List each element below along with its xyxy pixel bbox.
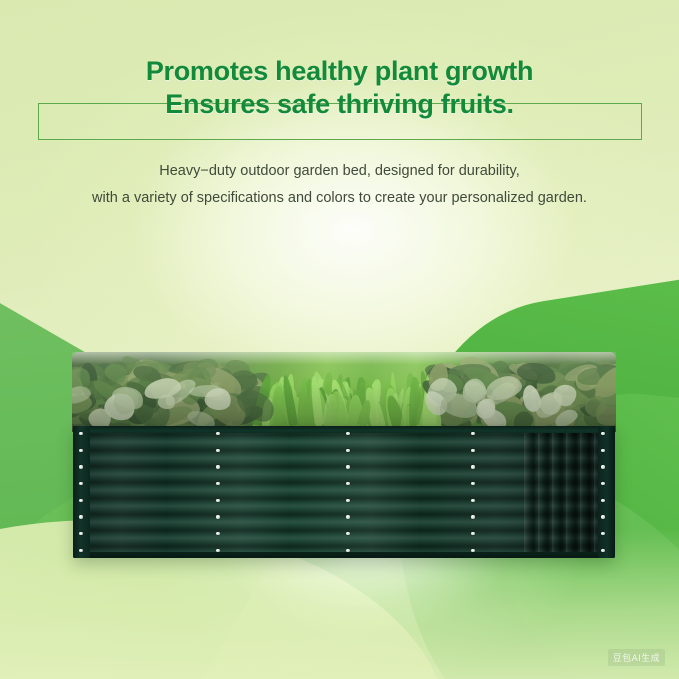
rivet <box>601 482 604 485</box>
rivet <box>79 532 82 535</box>
rivet <box>471 549 474 552</box>
rivet <box>216 482 219 485</box>
subtitle-line-2: with a variety of specifications and col… <box>0 185 679 212</box>
bed-end-face <box>524 426 598 558</box>
product-image <box>70 352 618 567</box>
rivet <box>79 465 82 468</box>
rivet <box>216 532 219 535</box>
promo-poster: Promotes healthy plant growth Ensures sa… <box>0 0 679 679</box>
rivet <box>471 499 474 502</box>
foliage <box>72 352 616 432</box>
rivet <box>601 465 604 468</box>
rivet <box>471 449 474 452</box>
rivet <box>601 515 604 518</box>
rivet-column <box>346 432 350 552</box>
rivet <box>346 532 349 535</box>
rivet <box>216 465 219 468</box>
rivet-column <box>216 432 220 552</box>
rivet <box>471 465 474 468</box>
subtitle-line-1: Heavy−duty outdoor garden bed, designed … <box>0 158 679 185</box>
rivet <box>79 499 82 502</box>
rivet <box>216 449 219 452</box>
bed-bottom-lip <box>73 552 615 558</box>
rivet <box>346 432 349 435</box>
rivet <box>471 482 474 485</box>
rivet <box>346 482 349 485</box>
page-title: Promotes healthy plant growth Ensures sa… <box>0 55 679 121</box>
headline-line-2: Ensures safe thriving fruits. <box>0 88 679 121</box>
rivet <box>79 549 82 552</box>
page-subtitle: Heavy−duty outdoor garden bed, designed … <box>0 158 679 212</box>
rivet <box>216 499 219 502</box>
rivet <box>346 549 349 552</box>
rivet <box>346 465 349 468</box>
rivet <box>471 515 474 518</box>
ai-watermark: 豆包AI生成 <box>608 649 665 666</box>
rivet <box>79 432 82 435</box>
rivet <box>216 432 219 435</box>
rivet <box>79 449 82 452</box>
rivet <box>601 499 604 502</box>
rivet <box>346 515 349 518</box>
rivet <box>601 532 604 535</box>
rivet <box>601 549 604 552</box>
rivet <box>346 499 349 502</box>
rivet-column <box>79 432 83 552</box>
rivet <box>79 482 82 485</box>
rivet <box>601 432 604 435</box>
headline-line-1: Promotes healthy plant growth <box>0 55 679 88</box>
rivet <box>216 515 219 518</box>
garden-bed-body <box>73 426 615 558</box>
rivet-column <box>601 432 605 552</box>
rivet <box>216 549 219 552</box>
rivet <box>346 449 349 452</box>
rivet-column <box>471 432 475 552</box>
rivet <box>471 432 474 435</box>
foliage-shading <box>72 352 616 432</box>
rivet <box>79 515 82 518</box>
rivet <box>471 532 474 535</box>
rivet <box>601 449 604 452</box>
bed-top-lip <box>73 426 615 433</box>
